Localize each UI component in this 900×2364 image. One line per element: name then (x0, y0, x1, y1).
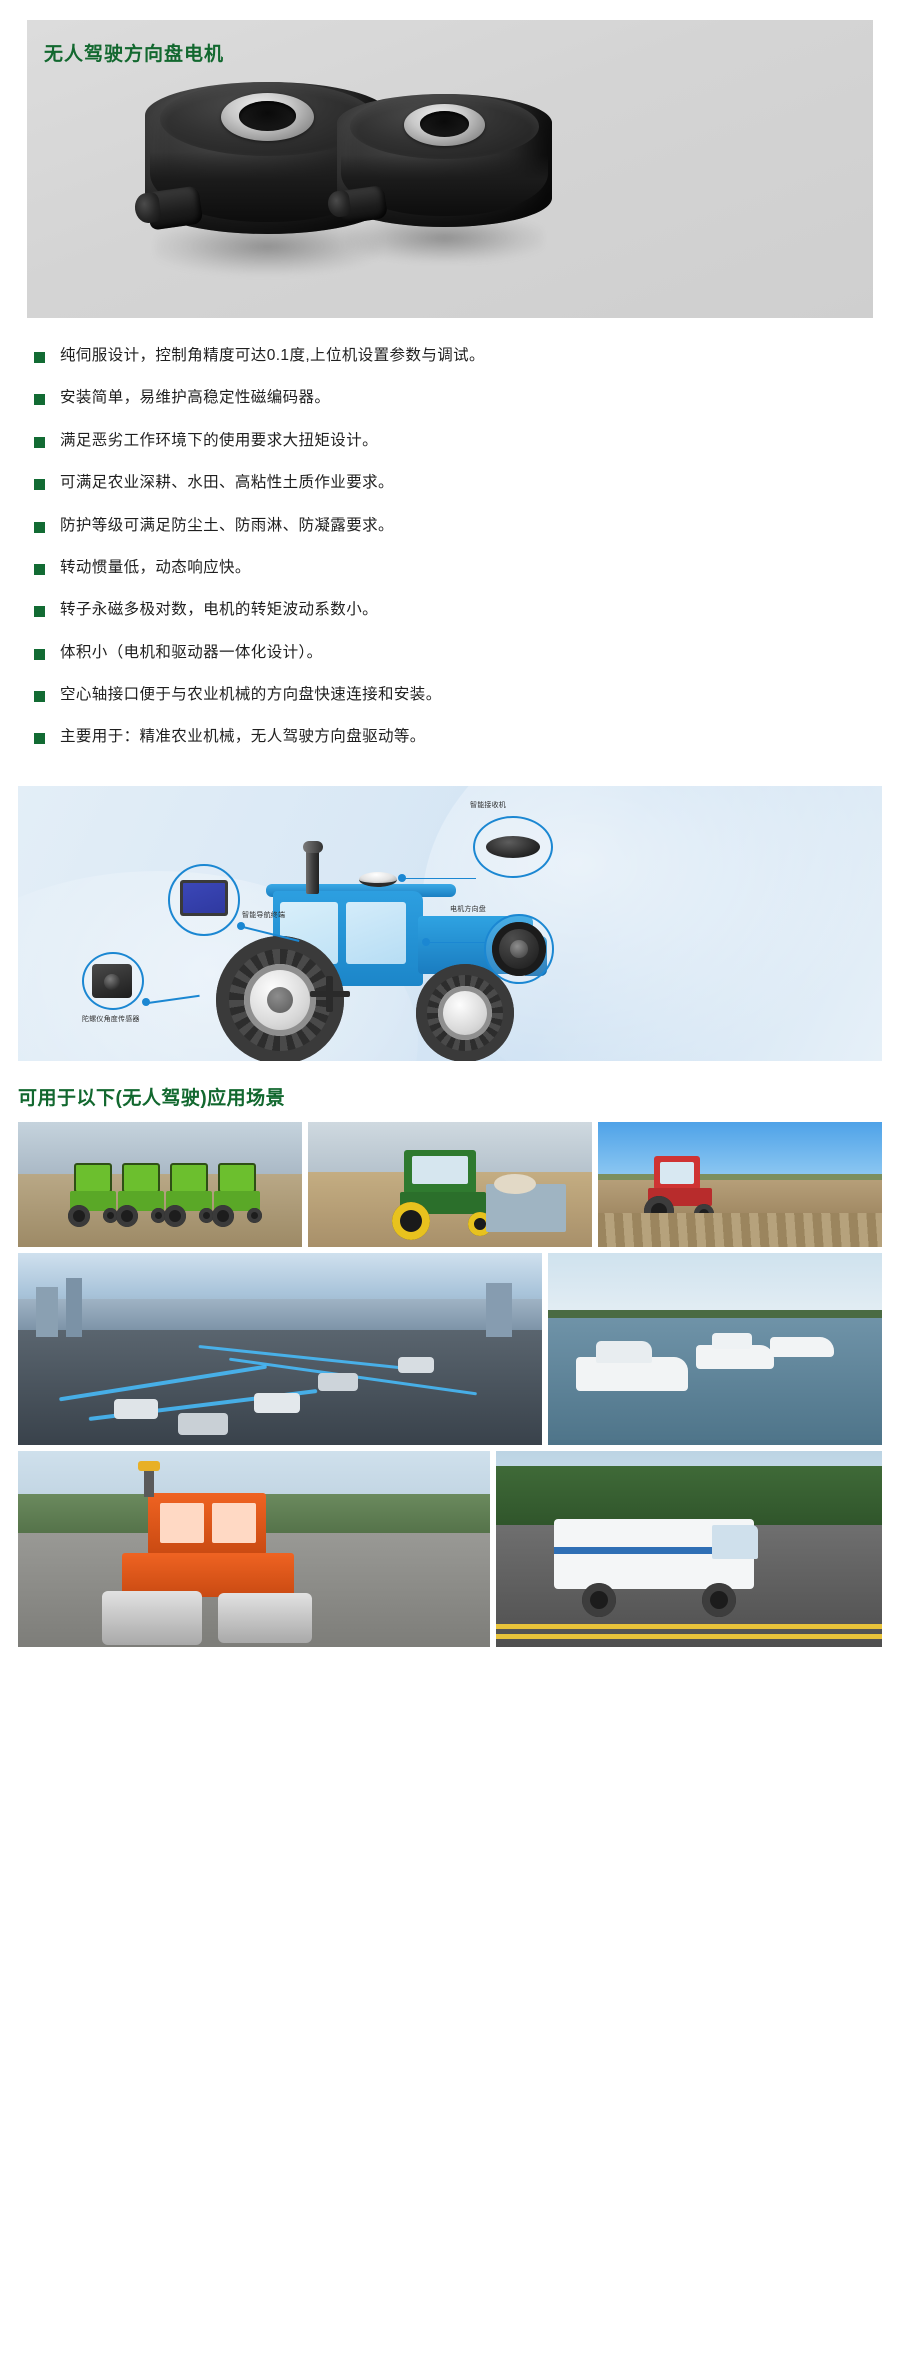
tractor-wheel (212, 1205, 234, 1227)
feature-item: 主要用于：精准农业机械，无人驾驶方向盘驱动等。 (34, 727, 866, 746)
building (66, 1278, 82, 1338)
tractor-cab (218, 1163, 256, 1193)
sweeper-windshield (712, 1525, 758, 1559)
callout-leader-line (428, 942, 486, 944)
feature-list: 纯伺服设计，控制角精度可达0.1度,上位机设置参数与调试。 安装简单，易维护高稳… (0, 318, 900, 778)
feature-item: 可满足农业深耕、水田、高粘性土质作业要求。 (34, 473, 866, 492)
feature-text: 空心轴接口便于与农业机械的方向盘快速连接和安装。 (60, 685, 442, 704)
planter-rear-wheel (392, 1202, 430, 1240)
feature-item: 防护等级可满足防尘土、防雨淋、防凝露要求。 (34, 516, 866, 535)
connector-cap (327, 190, 352, 219)
scenarios-heading: 可用于以下(无人驾驶)应用场景 (18, 1083, 900, 1110)
sweeper-wheel (582, 1583, 616, 1617)
connector-cap (133, 192, 162, 225)
product-detail-page: 无人驾驶方向盘电机 (0, 0, 900, 1673)
scenario-gallery: 绿色拖拉机车队 播种机拖拉机 (0, 1122, 900, 1673)
feature-item: 安装简单，易维护高稳定性磁编码器。 (34, 388, 866, 407)
gnss-receiver-icon (486, 836, 540, 858)
boat (770, 1337, 834, 1357)
tractor-exhaust-pipe (306, 846, 319, 894)
feature-item: 体积小（电机和驱动器一体化设计）。 (34, 643, 866, 662)
feature-item: 转动惯量低，动态响应快。 (34, 558, 866, 577)
callout-label: 智能接收机 (470, 800, 506, 810)
terminal-screen (183, 883, 225, 913)
roller-window (160, 1503, 204, 1543)
product-image (27, 82, 873, 297)
square-bullet-icon (34, 606, 45, 617)
building (486, 1283, 512, 1337)
tractor (70, 1163, 116, 1221)
motor-hollow-shaft-bore (239, 101, 295, 131)
square-bullet-icon (34, 564, 45, 575)
vehicle (254, 1393, 300, 1413)
feature-text: 防护等级可满足防尘土、防雨淋、防凝露要求。 (60, 516, 394, 535)
feature-text: 转子永磁多极对数，电机的转矩波动系数小。 (60, 600, 378, 619)
steering-wheel-hub (510, 940, 528, 958)
tractor-cab (122, 1163, 160, 1193)
warning-beacon (138, 1461, 160, 1471)
feature-text: 满足恶劣工作环境下的使用要求大扭矩设计。 (60, 431, 378, 450)
navigation-terminal-icon (180, 880, 228, 916)
road-surface (18, 1326, 542, 1445)
product-hero-banner: 无人驾驶方向盘电机 (27, 20, 873, 318)
scenario-tile-green-tractor-fleet[interactable]: 绿色拖拉机车队 (18, 1122, 302, 1247)
vehicle (114, 1399, 158, 1419)
horizon-vegetation (598, 1174, 882, 1180)
boat-cabin (712, 1333, 752, 1349)
tractor-axle (326, 976, 333, 1012)
feature-text: 体积小（电机和驱动器一体化设计）。 (60, 643, 323, 662)
gallery-row: 压路机 无人驾驶扫路车 (18, 1451, 882, 1647)
square-bullet-icon (34, 394, 45, 405)
feature-text: 安装简单，易维护高稳定性磁编码器。 (60, 388, 330, 407)
square-bullet-icon (34, 479, 45, 490)
feature-item: 空心轴接口便于与农业机械的方向盘快速连接和安装。 (34, 685, 866, 704)
callout-leader-line (404, 878, 476, 880)
vehicle (318, 1373, 358, 1391)
callout-label: 电机方向盘 (450, 904, 486, 914)
roller-drum (218, 1593, 312, 1643)
tractor (118, 1163, 164, 1221)
tractor-window (660, 1162, 694, 1184)
tractor-cab (170, 1163, 208, 1193)
feature-text: 纯伺服设计，控制角精度可达0.1度,上位机设置参数与调试。 (60, 346, 485, 365)
tractor-rear-hub (267, 987, 293, 1013)
roller-mast (144, 1469, 154, 1497)
feature-text: 主要用于：精准农业机械，无人驾驶方向盘驱动等。 (60, 727, 426, 746)
scenario-tile-street-sweeper[interactable]: 无人驾驶扫路车 (496, 1451, 882, 1647)
vehicle (398, 1357, 434, 1373)
tractor-front-rim (438, 986, 492, 1040)
scenario-tile-field-tractor[interactable]: 农田作业拖拉机 (598, 1122, 882, 1247)
motor-hollow-shaft-bore (420, 111, 469, 137)
road-marking (496, 1624, 882, 1629)
city-skyline (18, 1299, 542, 1330)
page-title: 无人驾驶方向盘电机 (44, 39, 224, 66)
plowed-furrows (598, 1213, 882, 1247)
seed-hopper (494, 1174, 536, 1194)
gyroscope-lens (104, 974, 120, 990)
square-bullet-icon (34, 733, 45, 744)
scenario-tile-road-roller[interactable]: 压路机 (18, 1451, 490, 1647)
motor-connector-right (328, 185, 393, 227)
feature-text: 可满足农业深耕、水田、高粘性土质作业要求。 (60, 473, 394, 492)
feature-text: 转动惯量低，动态响应快。 (60, 558, 251, 577)
square-bullet-icon (34, 522, 45, 533)
planter-window (412, 1156, 468, 1184)
motor-connector-left (135, 186, 209, 234)
motor-unit-right (337, 94, 552, 256)
square-bullet-icon (34, 649, 45, 660)
roller-window (212, 1503, 256, 1543)
sky (548, 1253, 882, 1318)
boat-cabin (596, 1341, 652, 1363)
building (36, 1287, 58, 1337)
sweeper-wheel (702, 1583, 736, 1617)
vehicle (178, 1413, 228, 1435)
square-bullet-icon (34, 691, 45, 702)
scenario-tile-seed-planter[interactable]: 播种机拖拉机 (308, 1122, 592, 1247)
tractor-window (346, 902, 406, 964)
roller-drum (102, 1591, 202, 1645)
tractor-wheel (68, 1205, 90, 1227)
square-bullet-icon (34, 352, 45, 363)
tractor-cab (74, 1163, 112, 1193)
road-marking (496, 1634, 882, 1639)
tractor (28, 1163, 74, 1221)
callout-label: 智能导航终端 (242, 910, 285, 920)
tractor-wheel (247, 1208, 262, 1223)
system-diagram: 智能导航终端 智能接收机 电机方向盘 陀螺仪角度传感器 (18, 786, 882, 1061)
feature-item: 纯伺服设计，控制角精度可达0.1度,上位机设置参数与调试。 (34, 346, 866, 365)
square-bullet-icon (34, 437, 45, 448)
gnss-receiver-icon (359, 872, 397, 887)
tractor (214, 1163, 260, 1221)
gallery-row: 智能高速公路 河道游艇 (18, 1253, 882, 1445)
feature-item: 满足恶劣工作环境下的使用要求大扭矩设计。 (34, 431, 866, 450)
scenario-tile-smart-highway[interactable]: 智能高速公路 (18, 1253, 542, 1445)
feature-item: 转子永磁多极对数，电机的转矩波动系数小。 (34, 600, 866, 619)
tractor-exhaust-tip (303, 841, 323, 853)
scenario-tile-river-boats[interactable]: 河道游艇 (548, 1253, 882, 1445)
gallery-row: 绿色拖拉机车队 播种机拖拉机 (18, 1122, 882, 1247)
callout-label: 陀螺仪角度传感器 (82, 1014, 140, 1024)
tractor-wheel (164, 1205, 186, 1227)
tractor-wheel (116, 1205, 138, 1227)
sky (598, 1122, 882, 1178)
tractor (166, 1163, 212, 1221)
